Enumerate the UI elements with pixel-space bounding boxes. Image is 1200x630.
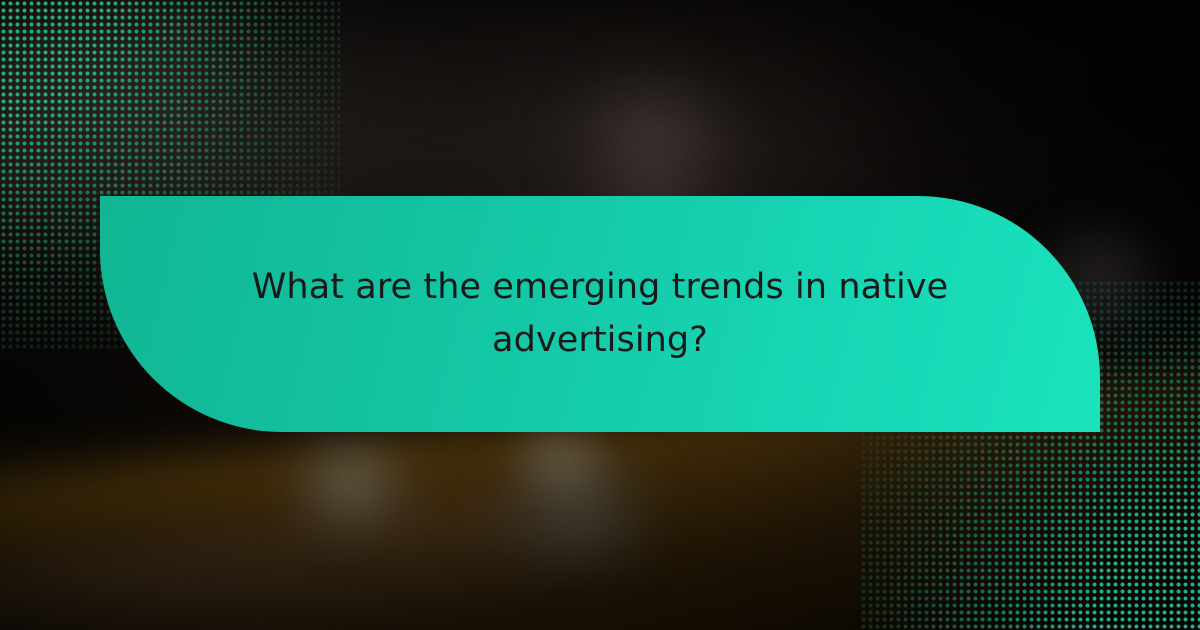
quote-text: What are the emerging trends in native a… [250,261,950,367]
quote-banner: What are the emerging trends in native a… [100,196,1100,432]
social-quote-card: What are the emerging trends in native a… [0,0,1200,630]
